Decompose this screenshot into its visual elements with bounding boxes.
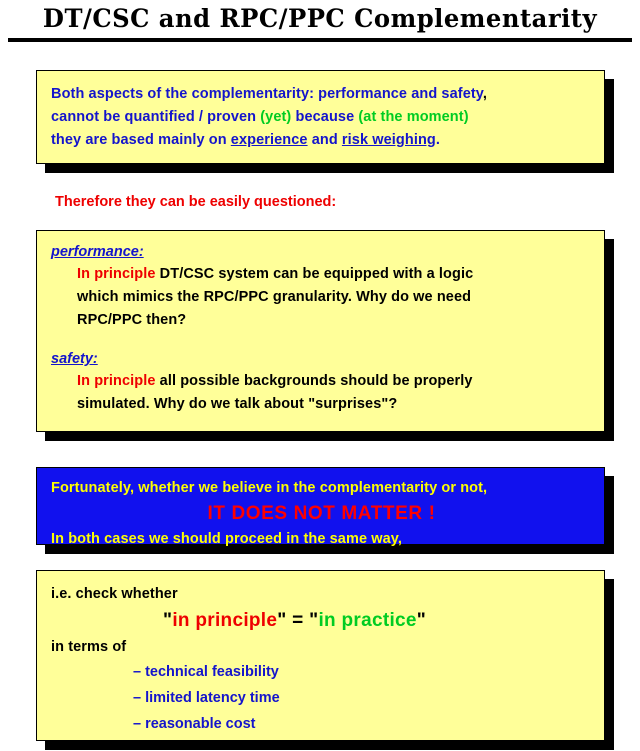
check-line-1: i.e. check whether	[51, 583, 592, 606]
equation-in-principle: in principle	[172, 610, 277, 631]
intro-line-3-risk-weighing: risk weighing	[342, 132, 436, 148]
therefore-statement: Therefore they can be easily questioned:	[55, 194, 336, 210]
check-bullet-2: – reasonable cost	[51, 711, 592, 737]
intro-line-2-at-the-moment: (at the moment)	[358, 109, 468, 125]
performance-line-1: In principle DT/CSC system can be equipp…	[51, 263, 473, 286]
performance-line-1-rest: DT/CSC system can be equipped with a log…	[156, 266, 474, 282]
title-area: DT/CSC and RPC/PPC Complementarity	[0, 0, 640, 48]
intro-line-2: cannot be quantified / proven (yet) beca…	[51, 106, 487, 129]
check-bullet-0: – technical feasibility	[51, 659, 592, 685]
safety-line-2: simulated. Why do we talk about "surpris…	[51, 393, 473, 416]
matter-line-1: Fortunately, whether we believe in the c…	[51, 477, 592, 500]
check-line-3: in terms of	[51, 636, 592, 659]
equation-quote-2: " = "	[277, 610, 318, 631]
performance-line-3: RPC/PPC then?	[51, 309, 473, 332]
intro-card: Both aspects of the complementarity: per…	[36, 70, 605, 164]
questions-card: performance: In principle DT/CSC system …	[36, 230, 605, 432]
intro-line-3-b: and	[308, 132, 342, 148]
intro-line-2-b: because	[291, 109, 358, 125]
questions-card-body: performance: In principle DT/CSC system …	[51, 241, 473, 416]
intro-line-3-a: they are based mainly on	[51, 132, 231, 148]
matter-card-body: Fortunately, whether we believe in the c…	[51, 477, 592, 551]
safety-heading: safety:	[51, 348, 473, 370]
intro-card-body: Both aspects of the complementarity: per…	[51, 83, 487, 152]
intro-line-3-period: .	[436, 132, 440, 148]
performance-line-2: which mimics the RPC/PPC granularity. Wh…	[51, 286, 473, 309]
equation-in-practice: in practice	[318, 610, 416, 631]
intro-line-1-text: Both aspects of the complementarity: per…	[51, 86, 483, 102]
check-card: i.e. check whether "in principle" = "in …	[36, 570, 605, 741]
intro-line-2-yet: (yet)	[260, 109, 291, 125]
performance-heading: performance:	[51, 241, 473, 263]
intro-line-2-a: cannot be quantified / proven	[51, 109, 260, 125]
intro-line-3-experience: experience	[231, 132, 308, 148]
equation-quote-3: "	[417, 610, 426, 631]
equation-quote-1: "	[163, 610, 172, 631]
page-title: DT/CSC and RPC/PPC Complementarity	[10, 4, 631, 33]
check-bullet-1: – limited latency time	[51, 685, 592, 711]
performance-lead: In principle	[77, 266, 156, 282]
check-card-body: i.e. check whether "in principle" = "in …	[51, 583, 592, 737]
intro-line-1-comma: ,	[483, 86, 487, 102]
safety-lead: In principle	[77, 373, 156, 389]
matter-card: Fortunately, whether we believe in the c…	[36, 467, 605, 545]
principle-equals-practice: "in principle" = "in practice"	[51, 606, 592, 636]
intro-line-1: Both aspects of the complementarity: per…	[51, 83, 487, 106]
intro-line-3: they are based mainly on experience and …	[51, 129, 487, 152]
matter-headline: IT DOES NOT MATTER !	[51, 500, 592, 528]
matter-line-3: In both cases we should proceed in the s…	[51, 528, 592, 551]
safety-line-1-rest: all possible backgrounds should be prope…	[156, 373, 473, 389]
title-divider	[8, 38, 632, 42]
safety-line-1: In principle all possible backgrounds sh…	[51, 370, 473, 393]
